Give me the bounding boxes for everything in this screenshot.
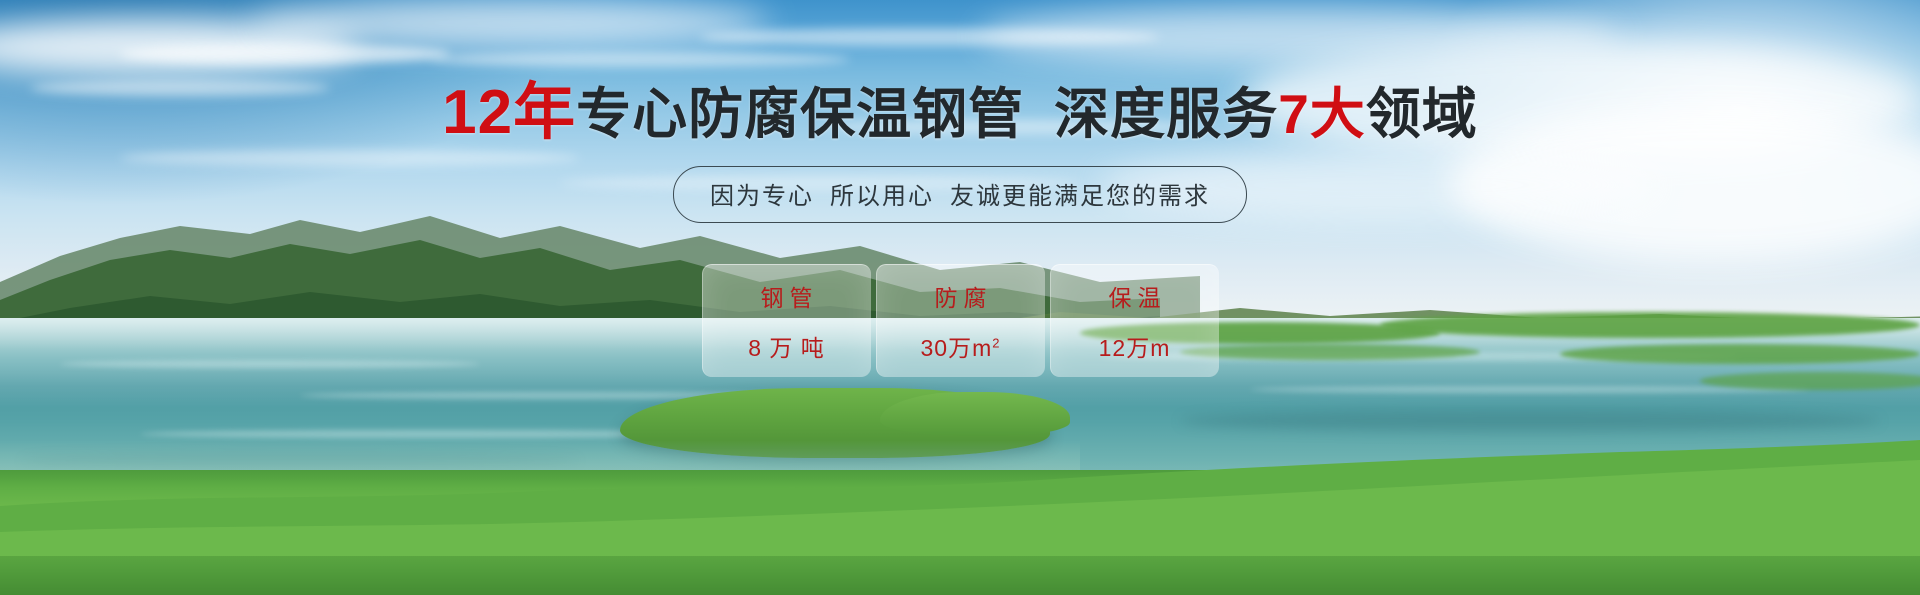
stat-card-list: 钢管 8 万 吨 防腐 30万m2 保温 12万m [0, 264, 1920, 377]
headline-segment-1: 专心防腐保温钢管 [576, 83, 1024, 145]
subtitle-pill: 因为专心所以用心友诚更能满足您的需求 [673, 166, 1247, 223]
banner-content: 12年专心防腐保温钢管深度服务7大领域 因为专心所以用心友诚更能满足您的需求 钢… [0, 0, 1920, 595]
stat-card-value-text: 8 万 吨 [748, 335, 825, 361]
subtitle-part-3: 友诚更能满足您的需求 [950, 183, 1210, 210]
stat-card-insulation: 保温 12万m [1050, 264, 1219, 377]
subtitle-part-1: 因为专心 [710, 183, 814, 210]
stat-card-label: 防腐 [929, 279, 993, 313]
stat-card-value: 8 万 吨 [748, 329, 825, 363]
headline-segment-3: 领域 [1366, 83, 1478, 145]
stat-card-value: 30万m2 [921, 329, 1001, 363]
promo-banner: 12年专心防腐保温钢管深度服务7大领域 因为专心所以用心友诚更能满足您的需求 钢… [0, 0, 1920, 595]
stat-card-value-text: 12万m [1099, 335, 1171, 361]
headline-years-unit: 年 [513, 78, 576, 147]
headline-years-number: 12 [442, 78, 513, 147]
stat-card-steel-pipe: 钢管 8 万 吨 [702, 264, 871, 377]
stat-card-value-text: 30万m [921, 335, 993, 361]
page-title: 12年专心防腐保温钢管深度服务7大领域 [0, 82, 1920, 144]
headline-fields-number: 7 [1278, 83, 1310, 145]
headline-segment-2: 深度服务 [1054, 83, 1278, 145]
headline-fields-unit: 大 [1310, 83, 1366, 145]
stat-card-value-superscript: 2 [992, 335, 1000, 350]
subtitle-container: 因为专心所以用心友诚更能满足您的需求 [0, 166, 1920, 223]
stat-card-label: 保温 [1103, 279, 1167, 313]
stat-card-label: 钢管 [755, 279, 819, 313]
subtitle-part-2: 所以用心 [830, 183, 934, 210]
stat-card-value: 12万m [1099, 329, 1171, 363]
stat-card-anticorrosion: 防腐 30万m2 [876, 264, 1045, 377]
